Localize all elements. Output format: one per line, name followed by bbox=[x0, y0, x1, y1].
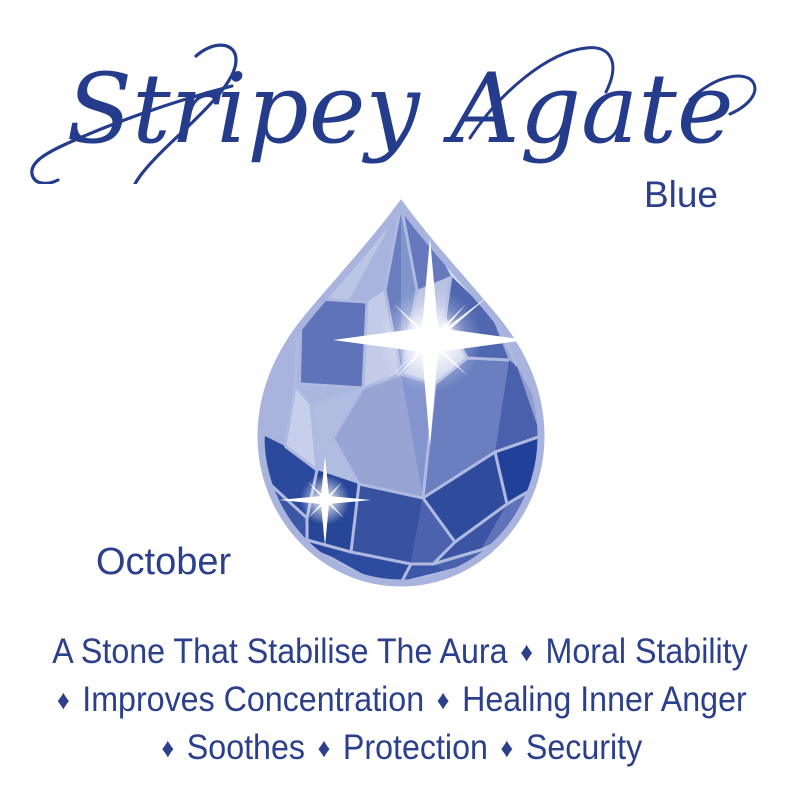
gemstone-icon bbox=[255, 198, 547, 590]
property-item: Protection bbox=[343, 728, 488, 767]
property-item: Moral Stability bbox=[546, 632, 748, 671]
diamond-bullet-icon: ♦ bbox=[517, 637, 537, 667]
page-title: Stripey Agate bbox=[0, 34, 800, 184]
diamond-bullet-icon: ♦ bbox=[433, 685, 453, 715]
month-label: October bbox=[96, 543, 231, 581]
title-flourish bbox=[32, 45, 755, 184]
property-item: Soothes bbox=[187, 728, 305, 767]
color-label: Blue bbox=[644, 176, 718, 213]
diamond-bullet-icon: ♦ bbox=[53, 685, 73, 715]
properties-line-3: ♦ Soothes ♦ Protection ♦ Security bbox=[32, 724, 768, 772]
diamond-bullet-icon: ♦ bbox=[497, 733, 517, 763]
property-item: Healing Inner Anger bbox=[462, 680, 747, 719]
diamond-bullet-icon: ♦ bbox=[158, 733, 178, 763]
properties-line-1: A Stone That Stabilise The Aura ♦ Moral … bbox=[32, 628, 768, 676]
property-item: Security bbox=[526, 728, 642, 767]
property-item: Improves Concentration bbox=[82, 680, 424, 719]
gemstone-info-card: Stripey Agate Blue bbox=[0, 0, 800, 800]
diamond-bullet-icon: ♦ bbox=[314, 733, 334, 763]
title-text: Stripey Agate bbox=[66, 53, 733, 165]
properties-line-2: ♦ Improves Concentration ♦ Healing Inner… bbox=[32, 676, 768, 724]
properties-list: A Stone That Stabilise The Aura ♦ Moral … bbox=[0, 628, 800, 772]
gem-facets bbox=[261, 205, 541, 584]
property-item: A Stone That Stabilise The Aura bbox=[52, 632, 507, 671]
